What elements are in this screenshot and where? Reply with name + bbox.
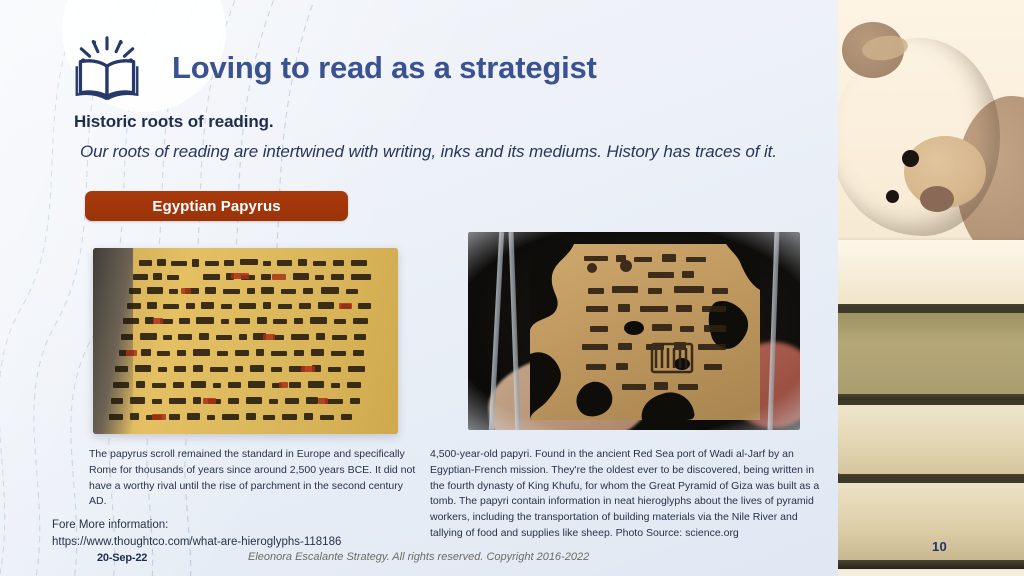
book-stack-item bbox=[838, 240, 1024, 312]
open-book-icon bbox=[70, 36, 144, 102]
bear-eye bbox=[902, 150, 919, 167]
more-information-label: Fore More information: bbox=[52, 517, 452, 534]
footer-date: 20-Sep-22 bbox=[97, 552, 147, 564]
more-information-url[interactable]: https://www.thoughtco.com/what-are-hiero… bbox=[52, 534, 452, 551]
caption-left: The papyrus scroll remained the standard… bbox=[89, 447, 419, 510]
hieroglyph-marks bbox=[93, 248, 398, 434]
papyrus-fragment-image bbox=[468, 232, 800, 430]
book-stack-item bbox=[838, 308, 1024, 402]
bear-nose bbox=[920, 186, 954, 212]
topic-badge: Egyptian Papyrus bbox=[85, 191, 348, 221]
papyrus-fragment bbox=[530, 244, 760, 420]
section-subheading: Historic roots of reading. bbox=[74, 112, 274, 132]
side-photo-teddy-bear-books: 10 bbox=[838, 0, 1024, 576]
footer-copyright: Eleonora Escalante Strategy. All rights … bbox=[248, 551, 589, 563]
book-edge bbox=[838, 560, 1024, 569]
stacked-books-photo bbox=[838, 236, 1024, 576]
page-title: Loving to read as a strategist bbox=[172, 50, 597, 86]
more-information-block: Fore More information: https://www.thoug… bbox=[52, 517, 452, 550]
book-stack-item bbox=[838, 400, 1024, 480]
caption-right: 4,500-year-old papyri. Found in the anci… bbox=[430, 447, 830, 542]
slide: 10 Loving to read as a strategist Histor… bbox=[0, 0, 1024, 576]
papyrus-scroll-image bbox=[93, 248, 398, 434]
page-number: 10 bbox=[932, 539, 947, 554]
section-lede: Our roots of reading are intertwined wit… bbox=[80, 141, 840, 164]
bear-eye bbox=[886, 190, 899, 203]
